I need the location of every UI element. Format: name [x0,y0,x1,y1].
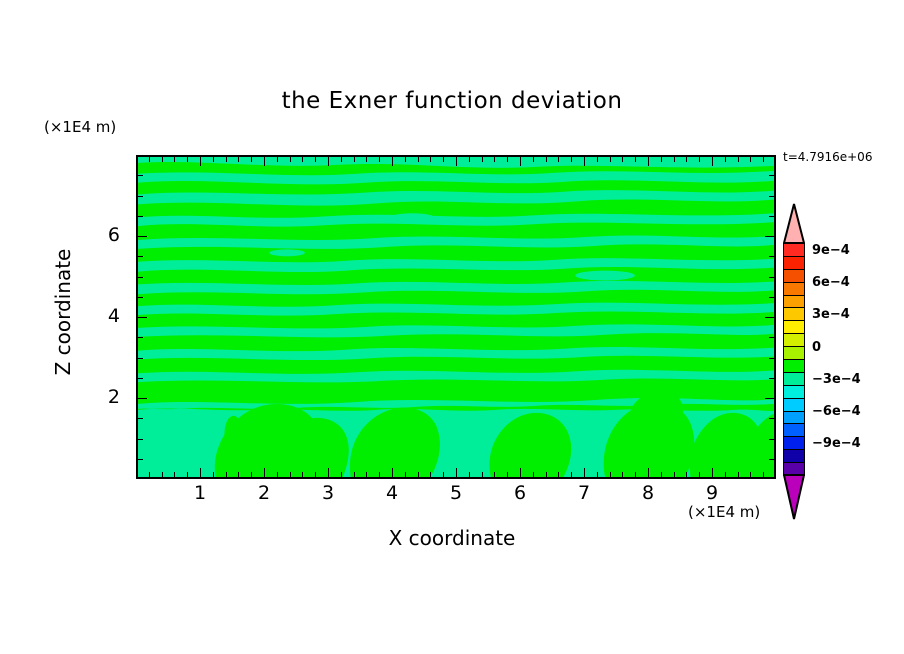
x-tick [494,157,495,162]
x-tick [341,472,342,477]
x-tick [725,157,726,162]
x-tick [546,157,547,162]
x-tick [328,468,329,477]
y-tick [138,378,143,379]
x-tick-label: 3 [308,482,348,504]
y-tick [769,297,774,298]
x-tick [379,472,380,477]
x-tick [187,472,188,477]
x-tick [648,157,649,166]
y-tick [769,196,774,197]
colorbar-tick-label: −6e−4 [812,404,861,419]
x-tick [520,468,521,477]
y-tick [769,439,774,440]
colorbar-tick-label: 9e−4 [812,243,850,258]
y-tick [765,317,774,318]
y-tick-label: 2 [96,386,120,408]
x-tick [584,468,585,477]
x-tick [238,157,239,162]
colorbar-band [783,333,805,347]
x-tick [392,157,393,166]
x-axis-title: X coordinate [0,526,904,550]
x-tick [277,157,278,162]
x-tick [238,472,239,477]
x-tick [290,472,291,477]
x-tick [482,157,483,162]
x-tick [712,468,713,477]
x-tick [494,472,495,477]
y-tick [138,216,143,217]
colorbar-tick-label: 6e−4 [812,275,850,290]
x-tick [571,472,572,477]
y-tick [769,358,774,359]
x-tick [635,157,636,162]
x-tick [405,472,406,477]
x-tick [264,157,265,166]
x-tick [661,157,662,162]
y-tick [138,277,143,278]
y-tick-label: 6 [96,224,120,246]
x-tick [456,157,457,166]
x-tick-label: 2 [244,482,284,504]
colorbar-band [783,295,805,309]
x-tick [162,157,163,162]
x-tick [725,472,726,477]
x-tick [622,157,623,162]
x-tick [712,157,713,166]
x-tick [763,472,764,477]
x-tick [648,468,649,477]
x-tick [597,472,598,477]
x-tick [738,472,739,477]
x-tick [354,472,355,477]
colorbar-tick-label: 0 [812,340,821,355]
colorbar-band [783,282,805,296]
colorbar-tick-label: −3e−4 [812,372,861,387]
x-tick [366,157,367,162]
colorbar-band [783,385,805,399]
x-tick-label: 1 [180,482,220,504]
y-tick [138,196,143,197]
y-tick [765,398,774,399]
x-tick [686,157,687,162]
x-tick-label: 6 [500,482,540,504]
x-tick [507,472,508,477]
x-tick [187,157,188,162]
y-tick [769,459,774,460]
x-tick [558,472,559,477]
x-tick [674,472,675,477]
x-tick [213,472,214,477]
x-tick [418,157,419,162]
colorbar-band [783,307,805,321]
x-tick [584,157,585,166]
y-tick [138,459,143,460]
colorbar-band [783,423,805,437]
x-tick [610,472,611,477]
x-tick [315,472,316,477]
colorbar-band [783,346,805,360]
x-tick [200,468,201,477]
x-tick [661,472,662,477]
x-tick [635,472,636,477]
x-tick [174,157,175,162]
colorbar-top-cap [783,203,805,244]
y-axis-unit-label: (×1E4 m) [44,118,116,136]
colorbar-band [783,398,805,412]
x-tick [264,468,265,477]
y-tick [769,418,774,419]
x-tick [469,157,470,162]
x-tick [558,157,559,162]
x-tick [699,472,700,477]
x-tick [763,157,764,162]
x-tick [315,157,316,162]
colorbar-band [783,243,805,257]
x-tick [469,472,470,477]
x-tick [405,157,406,162]
x-tick [174,472,175,477]
x-tick [674,157,675,162]
y-tick [138,175,143,176]
x-tick [226,472,227,477]
x-tick [520,157,521,166]
colorbar [783,243,805,475]
y-tick [769,277,774,278]
x-tick [430,157,431,162]
x-tick [610,157,611,162]
y-tick [138,418,143,419]
x-axis-unit-label: (×1E4 m) [688,503,760,521]
colorbar-band [783,320,805,334]
y-tick [138,439,143,440]
x-tick [251,157,252,162]
x-tick-label: 4 [372,482,412,504]
x-tick [622,472,623,477]
colorbar-band [783,359,805,373]
x-tick [149,157,150,162]
colorbar-band [783,269,805,283]
colorbar-band [783,449,805,463]
x-tick [686,472,687,477]
y-tick [138,358,143,359]
x-tick [699,157,700,162]
x-tick [392,468,393,477]
x-tick [328,157,329,166]
x-tick [533,472,534,477]
x-tick [597,157,598,162]
x-tick [354,157,355,162]
x-tick [379,157,380,162]
y-tick [138,337,143,338]
colorbar-band [783,436,805,450]
x-tick [750,472,751,477]
figure-canvas: the Exner function deviation (×1E4 m) t=… [0,0,904,654]
x-tick [430,472,431,477]
y-tick [138,297,143,298]
colorbar-tick-label: 3e−4 [812,307,850,322]
y-axis-title: Z coordinate [51,232,75,392]
timestamp-annotation: t=4.7916e+06 [783,150,872,164]
y-tick [769,337,774,338]
y-tick [769,175,774,176]
page-title: the Exner function deviation [0,88,904,114]
x-tick [750,157,751,162]
y-tick [138,317,147,318]
x-tick [546,472,547,477]
x-tick [277,472,278,477]
y-tick [769,216,774,217]
x-tick [302,157,303,162]
x-tick [302,472,303,477]
x-tick [251,472,252,477]
x-tick [149,472,150,477]
colorbar-bottom-cap [783,474,805,520]
x-tick [533,157,534,162]
x-tick [226,157,227,162]
y-tick [769,378,774,379]
y-tick [765,236,774,237]
y-tick [138,256,143,257]
y-tick-label: 4 [96,305,120,327]
x-tick [341,157,342,162]
x-tick [507,157,508,162]
x-tick [482,472,483,477]
colorbar-band [783,372,805,386]
x-tick [418,472,419,477]
contour-field [138,157,774,477]
colorbar-band [783,256,805,270]
y-tick [138,398,147,399]
x-tick [200,157,201,166]
x-tick [738,157,739,162]
x-tick-label: 9 [692,482,732,504]
colorbar-tick-label: −9e−4 [812,436,861,451]
y-tick [769,256,774,257]
x-tick [443,157,444,162]
x-tick [162,472,163,477]
x-tick [571,157,572,162]
x-tick [443,472,444,477]
contour-plot-area [136,155,776,479]
x-tick-label: 8 [628,482,668,504]
colorbar-band [783,411,805,425]
y-tick [138,236,147,237]
x-tick [213,157,214,162]
x-tick [366,472,367,477]
x-tick-label: 5 [436,482,476,504]
x-tick [456,468,457,477]
x-tick [290,157,291,162]
x-tick-label: 7 [564,482,604,504]
